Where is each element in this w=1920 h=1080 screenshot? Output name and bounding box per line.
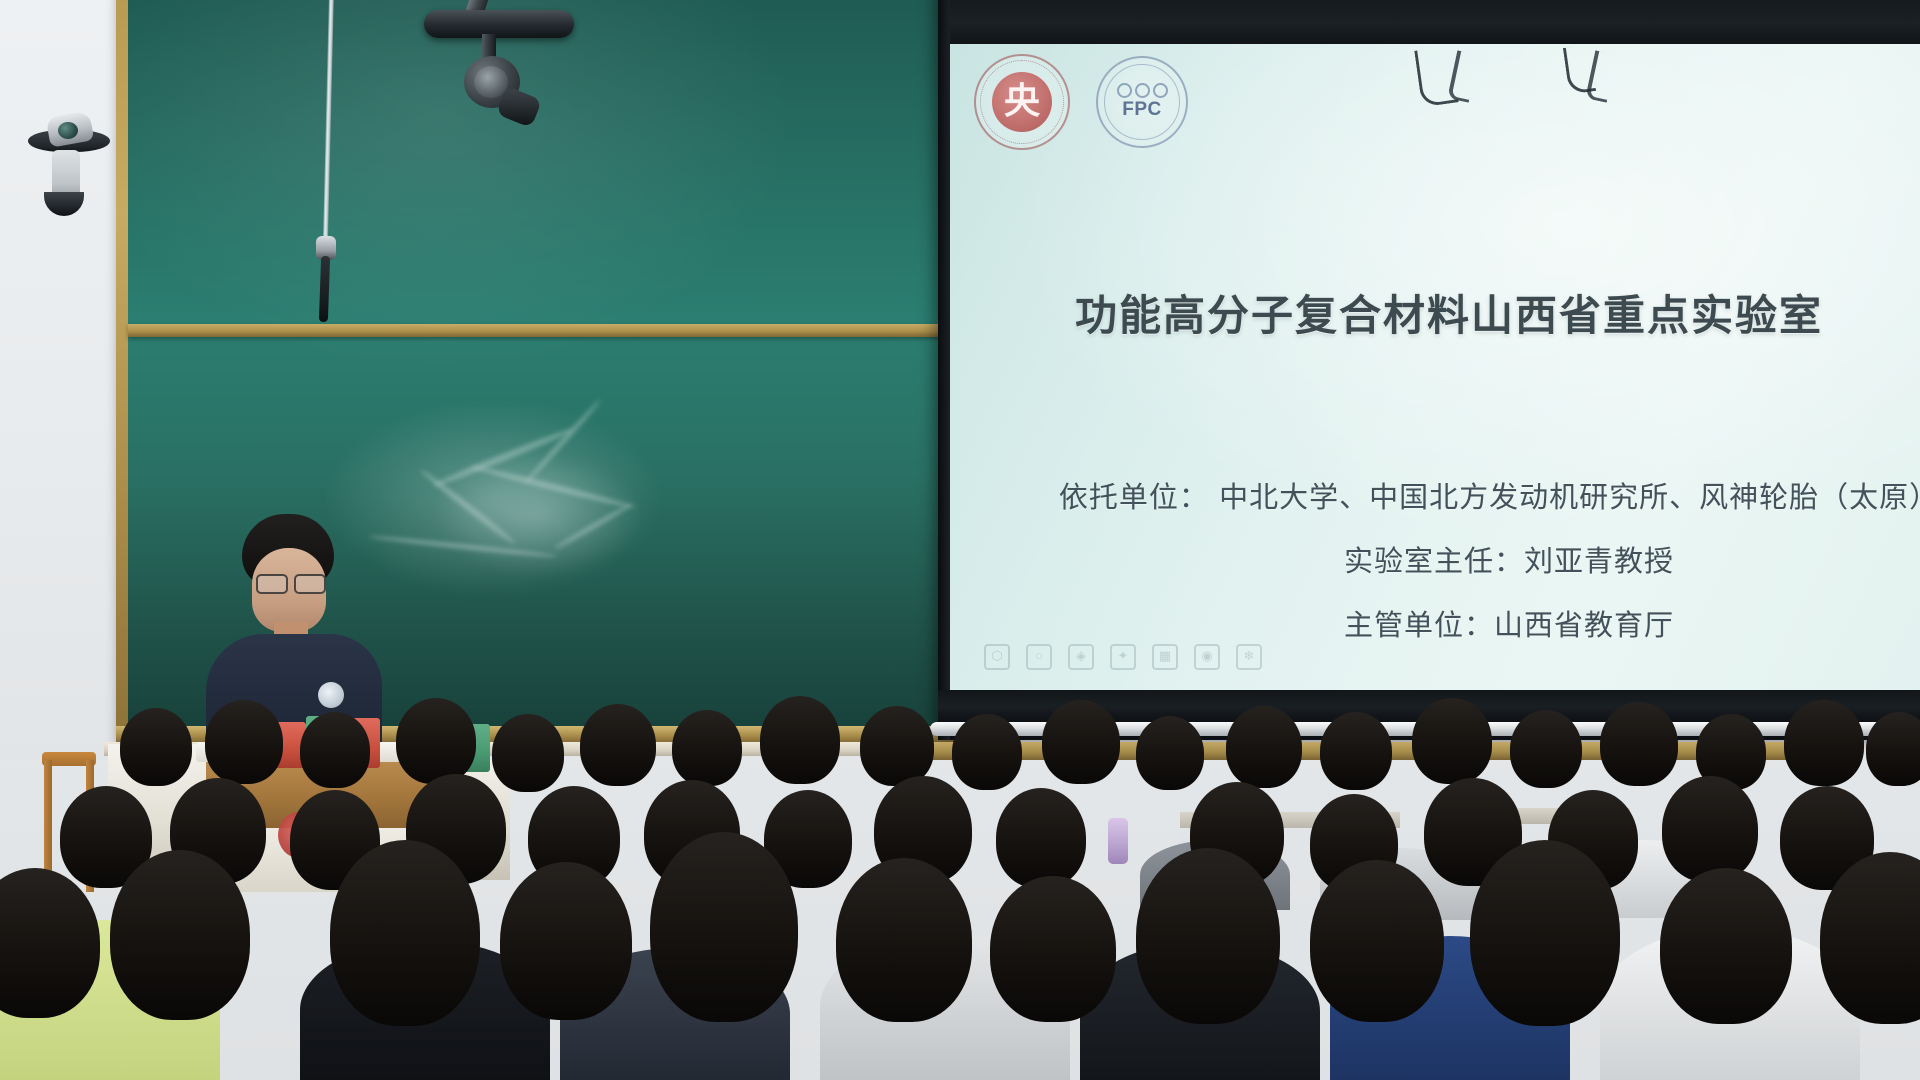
footer-icon-snowflake: ❄ <box>1236 644 1262 670</box>
audience-head <box>1320 712 1392 790</box>
footer-icon-star: ✦ <box>1110 644 1136 670</box>
water-bottle <box>1108 818 1128 864</box>
audience-head <box>1310 860 1444 1022</box>
fpc-lab-logo-icon: FPC <box>1096 56 1188 148</box>
ceiling-fixture-bar <box>424 10 574 38</box>
audience-head <box>330 840 480 1026</box>
audience-head <box>672 710 742 786</box>
audience-head <box>492 714 564 792</box>
audience-head <box>300 712 370 788</box>
audience-head <box>0 868 100 1018</box>
audience-head <box>990 876 1116 1022</box>
university-seal-icon: 央 <box>974 54 1070 150</box>
audience-head <box>500 862 632 1020</box>
security-camera-arm <box>52 150 80 198</box>
slide-line-host-unit: 依托单位： 中北大学、中国北方发动机研究所、风神轮胎（太原）有限公 <box>950 474 1920 516</box>
security-camera-lens-icon <box>58 122 78 139</box>
audience-head <box>396 698 476 784</box>
footer-icon-diamond: ◈ <box>1068 644 1094 670</box>
lecture-hall-scene: 央 FPC 功能高分子复合材料山西省重点实验室 依托单位： 中北大学、中国北方发… <box>0 0 1920 1080</box>
audience-head <box>120 708 192 786</box>
footer-icon-circle: ○ <box>1026 644 1052 670</box>
audience-head <box>1226 706 1302 788</box>
slide-logos: 央 FPC <box>974 54 1188 150</box>
slide-title: 功能高分子复合材料山西省重点实验室 <box>950 282 1920 343</box>
audience-head <box>1660 868 1792 1024</box>
audience-head <box>1510 710 1582 788</box>
slide-footer-icons: ⬡ ○ ◈ ✦ ▦ ◉ ❄ <box>984 644 1262 670</box>
audience-head <box>1136 848 1280 1024</box>
audience-head <box>1412 698 1492 784</box>
glasses-icon <box>252 574 326 590</box>
molecule-icon <box>1117 83 1168 98</box>
audience-head <box>1600 702 1678 786</box>
audience-head <box>952 714 1022 790</box>
audience-head <box>996 788 1086 888</box>
audience-head <box>1866 712 1920 786</box>
blackboard-divider <box>128 324 946 337</box>
audience-head <box>1662 776 1758 882</box>
audience-head <box>650 832 798 1022</box>
footer-icon-target: ◉ <box>1194 644 1220 670</box>
audience-head <box>1136 716 1204 790</box>
footer-icon-grid: ▦ <box>1152 644 1178 670</box>
audience <box>0 690 1920 1080</box>
audience-head <box>1784 700 1864 786</box>
slide-line-lab-director: 实验室主任：刘亚青教授 <box>950 538 1920 580</box>
footer-icon-hex: ⬡ <box>984 644 1010 670</box>
audience-head <box>580 704 656 786</box>
slide-line-supervising-unit: 主管单位：山西省教育厅 <box>950 602 1920 644</box>
audience-head <box>205 700 283 784</box>
audience-head <box>860 706 934 786</box>
audience-head <box>1042 700 1120 784</box>
audience-head <box>760 696 840 784</box>
slide-body: 依托单位： 中北大学、中国北方发动机研究所、风神轮胎（太原）有限公 实验室主任：… <box>950 474 1920 666</box>
presentation-slide: 央 FPC 功能高分子复合材料山西省重点实验室 依托单位： 中北大学、中国北方发… <box>950 44 1920 690</box>
projection-screen-top-band <box>938 0 1920 46</box>
audience-head <box>1470 840 1620 1026</box>
audience-head <box>110 850 250 1020</box>
projection-screen-left-edge <box>938 0 950 740</box>
audience-head <box>836 858 972 1022</box>
